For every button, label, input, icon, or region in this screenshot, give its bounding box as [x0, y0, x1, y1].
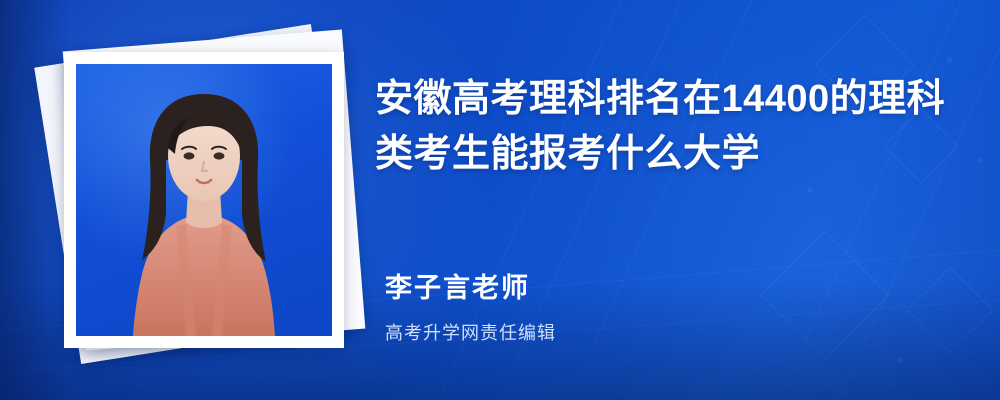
headline-block: 安徽高考理科排名在14400的理科 类考生能报考什么大学	[375, 72, 965, 182]
author-role: 高考升学网责任编辑	[385, 319, 975, 345]
author-block: 李子言老师 高考升学网责任编辑	[385, 268, 975, 345]
author-name: 李子言老师	[385, 268, 975, 309]
portrait-photo	[76, 64, 332, 336]
article-cover-banner: 安徽高考理科排名在14400的理科 类考生能报考什么大学 李子言老师 高考升学网…	[0, 0, 1000, 400]
headline-line-2: 类考生能报考什么大学	[375, 127, 965, 182]
photo-stack	[44, 30, 364, 370]
headline-line-1: 安徽高考理科排名在14400的理科	[375, 72, 965, 127]
portrait-illustration	[76, 64, 332, 336]
photo-card-front	[64, 52, 344, 348]
